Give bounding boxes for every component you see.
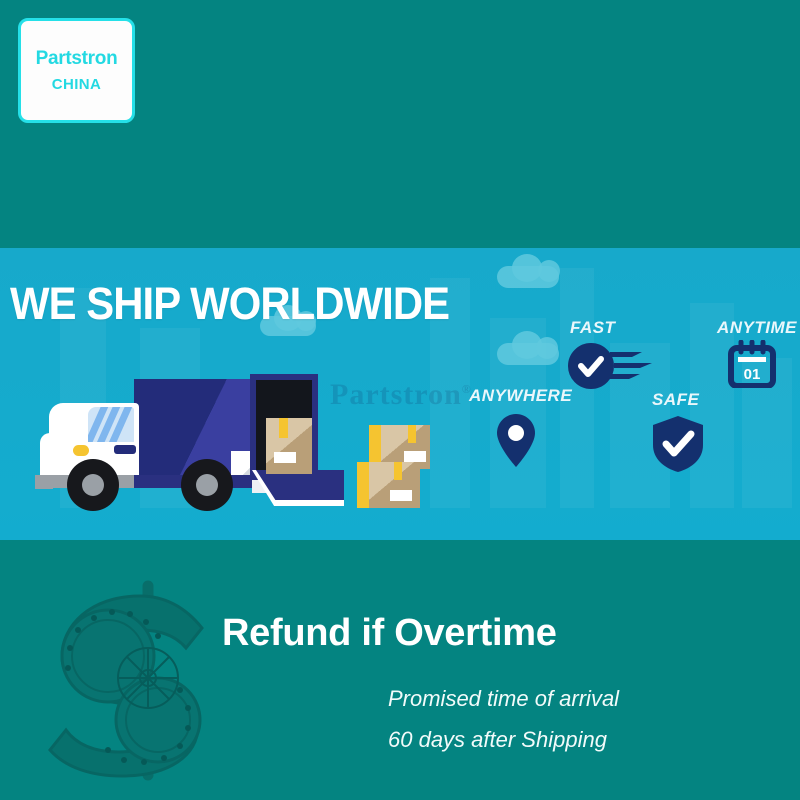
logo-country-label: CHINA xyxy=(52,77,102,92)
cardboard-box xyxy=(358,462,420,508)
cloud-icon xyxy=(536,337,558,359)
map-pin-icon xyxy=(493,412,539,470)
watermark-text: Partstron xyxy=(330,378,462,411)
feature-label-fast: FAST xyxy=(570,318,615,338)
calendar-day-number: 01 xyxy=(744,366,761,383)
cloud-icon xyxy=(538,260,560,282)
truck-bumper xyxy=(35,475,53,489)
banner-headline: WE SHIP WORLDWIDE xyxy=(10,281,449,326)
truck-window xyxy=(88,407,134,442)
feature-label-safe: SAFE xyxy=(652,390,699,410)
brand-watermark: Partstron® xyxy=(330,378,472,412)
refund-detail-line-1: Promised time of arrival xyxy=(388,686,619,712)
brand-logo: Partstron CHINA xyxy=(18,18,135,123)
calendar-icon: 01 xyxy=(727,340,777,388)
shield-check-icon xyxy=(650,414,706,474)
truck-door-handle xyxy=(114,445,136,454)
truck-rear-wheel xyxy=(181,459,233,511)
dollar-vault-icon xyxy=(30,578,230,783)
refund-title: Refund if Overtime xyxy=(222,612,557,655)
cardboard-box xyxy=(266,418,312,474)
shipping-info-banner-page: Partstron CHINA WE SHIP WORLDWIDE Partst… xyxy=(0,0,800,800)
feature-label-anytime: ANYTIME xyxy=(717,318,797,338)
feature-label-anywhere: ANYWHERE xyxy=(469,386,572,406)
truck-front-wheel xyxy=(67,459,119,511)
truck-headlight xyxy=(73,445,89,456)
logo-brand-name: Partstron xyxy=(36,49,118,68)
refund-detail-line-2: 60 days after Shipping xyxy=(388,727,607,753)
speed-check-icon xyxy=(568,340,654,392)
